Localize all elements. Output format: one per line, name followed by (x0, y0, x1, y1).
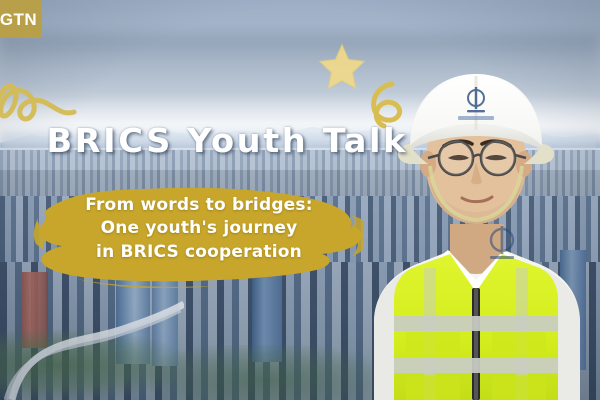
promo-graphic: CGTN (0, 0, 600, 400)
subtitle-line-3: in BRICS cooperation (34, 241, 364, 264)
cgtn-logo-badge: CGTN (0, 0, 42, 38)
subtitle-block: From words to bridges: One youth's journ… (34, 182, 364, 288)
subject-photo (352, 54, 600, 400)
page-title: BRICS Youth Talk (46, 124, 408, 157)
subtitle-line-1: From words to bridges: (34, 194, 364, 217)
cgtn-logo-text: CGTN (0, 11, 37, 28)
subtitle-line-2: One youth's journey (34, 217, 364, 240)
subtitle-text: From words to bridges: One youth's journ… (34, 194, 364, 264)
